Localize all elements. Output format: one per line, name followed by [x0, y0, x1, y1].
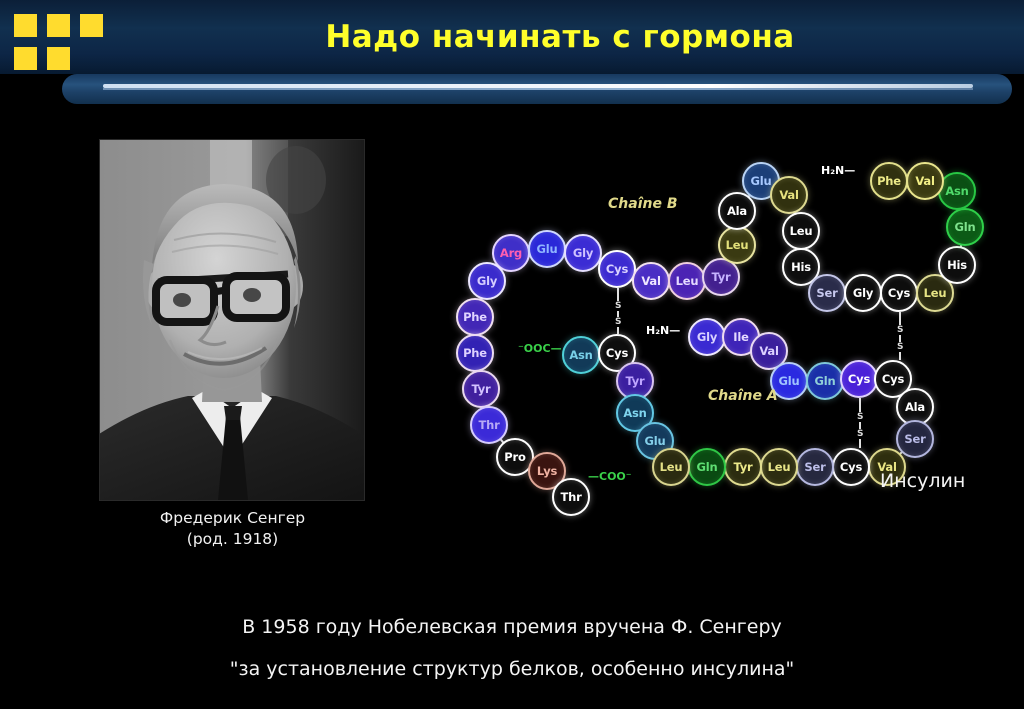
amino-acid-residue: Leu — [668, 262, 706, 300]
amino-acid-residue: Tyr — [724, 448, 762, 486]
portrait-image — [100, 140, 364, 500]
disulfide-bond — [899, 312, 901, 360]
disulfide-sulfur-label: S — [896, 325, 904, 335]
amino-acid-residue: Gln — [946, 208, 984, 246]
footer-line-2: "за установление структур белков, особен… — [62, 648, 962, 690]
photo-caption-line1: Фредерик Сенгер — [60, 508, 405, 529]
amino-acid-residue: Cys — [880, 274, 918, 312]
chain-terminus-label: —COO⁻ — [588, 470, 632, 483]
amino-acid-residue: Asn — [562, 336, 600, 374]
logo-square — [14, 47, 37, 70]
disulfide-bond — [617, 288, 619, 334]
insulin-structure-diagram: ArgGluGlyCysValLeuTyrLeuAlaGluValLeuHisS… — [440, 140, 1010, 485]
amino-acid-residue: Thr — [470, 406, 508, 444]
disulfide-sulfur-label: S — [896, 342, 904, 352]
disulfide-sulfur-label: S — [856, 412, 864, 422]
amino-acid-residue: Leu — [718, 226, 756, 264]
amino-acid-residue: His — [938, 246, 976, 284]
insulin-caption: Инсулин — [880, 470, 1020, 492]
amino-acid-residue: Thr — [552, 478, 590, 516]
amino-acid-residue: Val — [906, 162, 944, 200]
chain-terminus-label: H₂N— — [821, 164, 855, 177]
amino-acid-residue: Phe — [870, 162, 908, 200]
header-corner-mask — [0, 74, 62, 109]
sanger-portrait-photo — [99, 139, 365, 501]
logo-square — [47, 47, 70, 70]
amino-acid-residue: Gly — [844, 274, 882, 312]
chain-terminus-label: ⁻OOC— — [518, 342, 562, 355]
amino-acid-residue: Gly — [468, 262, 506, 300]
amino-acid-residue: Ala — [718, 192, 756, 230]
disulfide-bond — [859, 398, 861, 448]
disulfide-sulfur-label: S — [856, 429, 864, 439]
amino-acid-residue: Leu — [652, 448, 690, 486]
amino-acid-residue: Val — [632, 262, 670, 300]
amino-acid-residue: Gln — [806, 362, 844, 400]
amino-acid-residue: Cys — [598, 250, 636, 288]
amino-acid-residue: Tyr — [462, 370, 500, 408]
chain-terminus-label: H₂N— — [646, 324, 680, 337]
logo-square — [47, 14, 70, 37]
chain-label: Chaîne A — [708, 388, 778, 404]
amino-acid-residue: Cys — [832, 448, 870, 486]
amino-acid-residue: Leu — [782, 212, 820, 250]
amino-acid-residue: Cys — [840, 360, 878, 398]
amino-acid-residue: Gln — [688, 448, 726, 486]
amino-acid-residue: Val — [770, 176, 808, 214]
photo-caption: Фредерик Сенгер (род. 1918) — [60, 508, 405, 550]
slide-header: Надо начинать с гормона — [0, 0, 1024, 74]
amino-acid-residue: Phe — [456, 334, 494, 372]
amino-acid-residue: Gly — [564, 234, 602, 272]
amino-acid-residue: Ser — [896, 420, 934, 458]
amino-acid-residue: Gly — [688, 318, 726, 356]
header-accent-shadow — [103, 88, 973, 90]
amino-acid-residue: Leu — [760, 448, 798, 486]
amino-acid-residue: Phe — [456, 298, 494, 336]
photo-caption-line2: (род. 1918) — [60, 529, 405, 550]
amino-acid-residue: Glu — [528, 230, 566, 268]
amino-acid-residue: Ser — [796, 448, 834, 486]
amino-acid-residue: Ser — [808, 274, 846, 312]
footer-text: В 1958 году Нобелевская премия вручена Ф… — [62, 606, 962, 690]
disulfide-sulfur-label: S — [614, 301, 622, 311]
page-title: Надо начинать с гормона — [160, 14, 960, 60]
logo-square — [80, 14, 103, 37]
footer-line-1: В 1958 году Нобелевская премия вручена Ф… — [62, 606, 962, 648]
chain-label: Chaîne B — [608, 196, 678, 212]
disulfide-sulfur-label: S — [614, 317, 622, 327]
logo-square — [14, 14, 37, 37]
